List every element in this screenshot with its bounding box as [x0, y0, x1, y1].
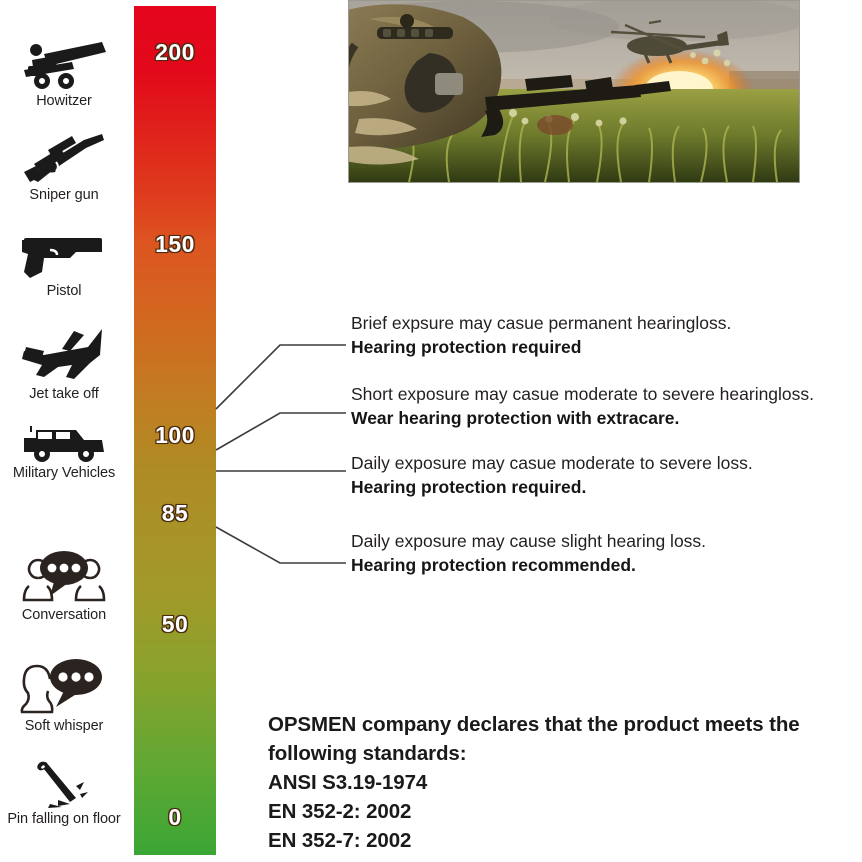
callout-danger-high: Short exposure may casue moderate to sev…: [351, 383, 814, 430]
combat-photo: [348, 0, 800, 183]
callout-action: Hearing protection recommended.: [351, 554, 706, 578]
scale-tick-100: 100: [134, 422, 216, 449]
standards-line: EN 352-2: 2002: [268, 797, 862, 826]
source-label: Jet take off: [0, 387, 128, 402]
scale-tick-85: 85: [134, 500, 216, 527]
callout-danger-extreme: Brief expsure may casue permanent hearin…: [351, 312, 731, 359]
callout-danger-moderate: Daily exposure may casue moderate to sev…: [351, 452, 753, 499]
pin-falling-icon: [0, 760, 128, 810]
source-item-jet: Jet take off: [0, 325, 128, 402]
source-item-pin-falling: Pin falling on floor: [0, 760, 128, 827]
source-label: Pistol: [0, 284, 128, 299]
military-vehicle-icon: [0, 420, 128, 464]
source-label: Howitzer: [0, 94, 128, 109]
noise-source-column: Howitzer Sniper gun: [0, 0, 130, 862]
callout-action: Hearing protection required: [351, 336, 731, 360]
source-item-conversation: Conversation: [0, 548, 128, 623]
source-label: Conversation: [0, 608, 128, 623]
source-label: Military Vehicles: [0, 466, 128, 481]
howitzer-icon: [0, 36, 128, 92]
callout-description: Brief expsure may casue permanent hearin…: [351, 312, 731, 336]
jet-icon: [0, 325, 128, 385]
source-label: Soft whisper: [0, 719, 128, 734]
standards-line: ANSI S3.19-1974: [268, 768, 862, 797]
leader-line-4: [216, 527, 346, 563]
source-item-sniper-gun: Sniper gun: [0, 130, 128, 203]
source-item-pistol: Pistol: [0, 228, 128, 299]
scale-tick-0: 0: [134, 804, 216, 831]
callout-danger-slight: Daily exposure may cause slight hearing …: [351, 530, 706, 577]
conversation-icon: [0, 548, 128, 606]
source-item-howitzer: Howitzer: [0, 36, 128, 109]
source-label: Sniper gun: [0, 188, 128, 203]
standards-line: OPSMEN company declares that the product…: [268, 710, 862, 739]
scale-tick-50: 50: [134, 611, 216, 638]
source-item-soft-whisper: Soft whisper: [0, 655, 128, 734]
scale-tick-150: 150: [134, 231, 216, 258]
callout-description: Daily exposure may casue moderate to sev…: [351, 452, 753, 476]
noise-level-infographic: Howitzer Sniper gun: [0, 0, 862, 862]
decibel-scale-bar: 200 150 100 85 50 0: [134, 6, 216, 855]
leader-line-1: [216, 345, 346, 409]
callout-action: Wear hearing protection with extracare.: [351, 407, 814, 431]
sniper-gun-icon: [0, 130, 128, 186]
pistol-icon: [0, 228, 128, 282]
source-item-military-vehicle: Military Vehicles: [0, 420, 128, 481]
standards-declaration: OPSMEN company declares that the product…: [268, 710, 862, 856]
scale-tick-200: 200: [134, 39, 216, 66]
source-label: Pin falling on floor: [0, 812, 128, 827]
callout-action: Hearing protection required.: [351, 476, 753, 500]
standards-line: EN 352-7: 2002: [268, 826, 862, 855]
soft-whisper-icon: [0, 655, 128, 717]
callout-description: Short exposure may casue moderate to sev…: [351, 383, 814, 407]
standards-line: following standards:: [268, 739, 862, 768]
leader-line-2: [216, 413, 346, 450]
callout-description: Daily exposure may cause slight hearing …: [351, 530, 706, 554]
